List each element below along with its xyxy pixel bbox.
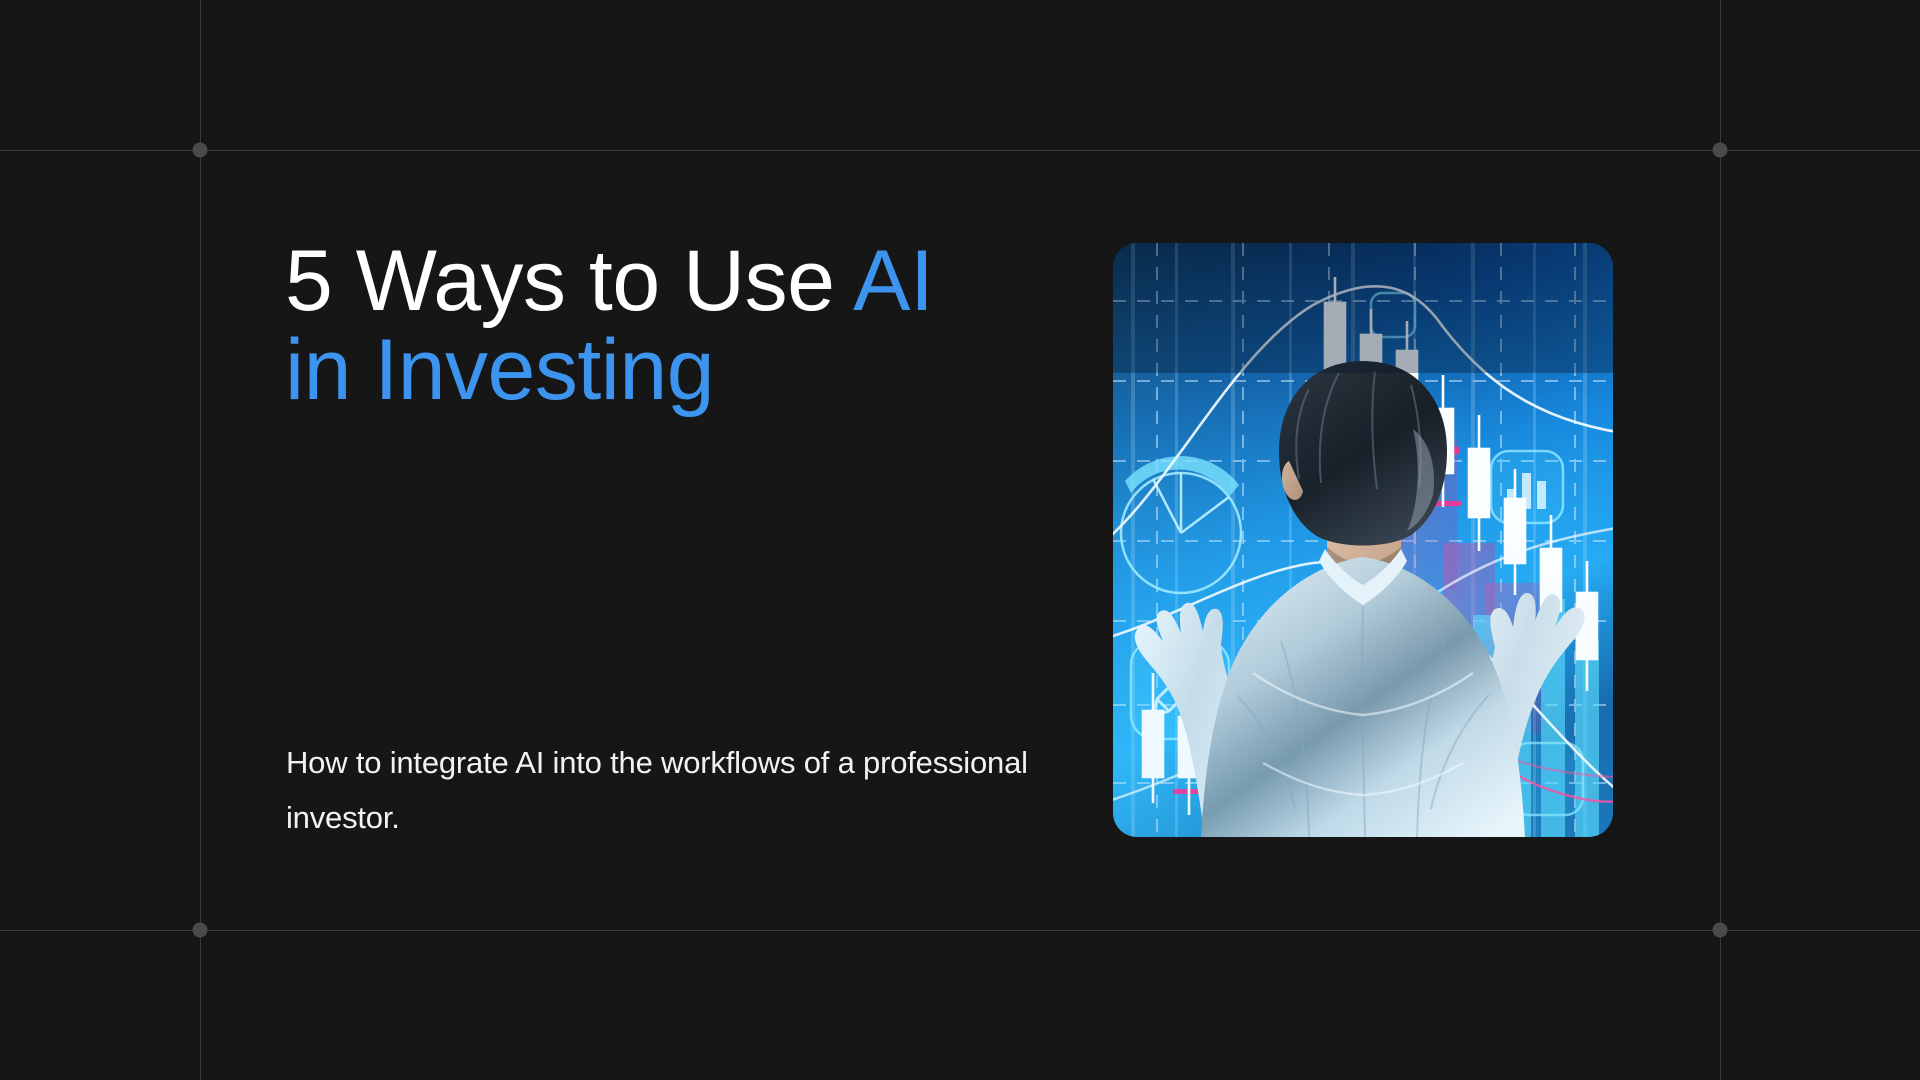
hero-image [1113, 243, 1613, 837]
guide-handle-top-right[interactable] [1713, 143, 1728, 158]
guide-handle-bottom-right[interactable] [1713, 923, 1728, 938]
title-line1-plain: 5 Ways to Use [285, 233, 853, 329]
title-line1-accent: AI [853, 233, 933, 329]
guide-handle-bottom-left[interactable] [193, 923, 208, 938]
slide-text-content: 5 Ways to Use AIin Investing How to inte… [285, 0, 1065, 1080]
slide-canvas: 5 Ways to Use AIin Investing How to inte… [0, 0, 1920, 1080]
guide-line-vertical-left [200, 0, 201, 1080]
hero-image-illustration [1113, 243, 1613, 837]
guide-line-vertical-right [1720, 0, 1721, 1080]
page-subtitle: How to integrate AI into the workflows o… [286, 735, 1076, 845]
page-title: 5 Ways to Use AIin Investing [285, 237, 1045, 415]
guide-handle-top-left[interactable] [193, 143, 208, 158]
title-line2-accent: in Investing [285, 322, 714, 418]
